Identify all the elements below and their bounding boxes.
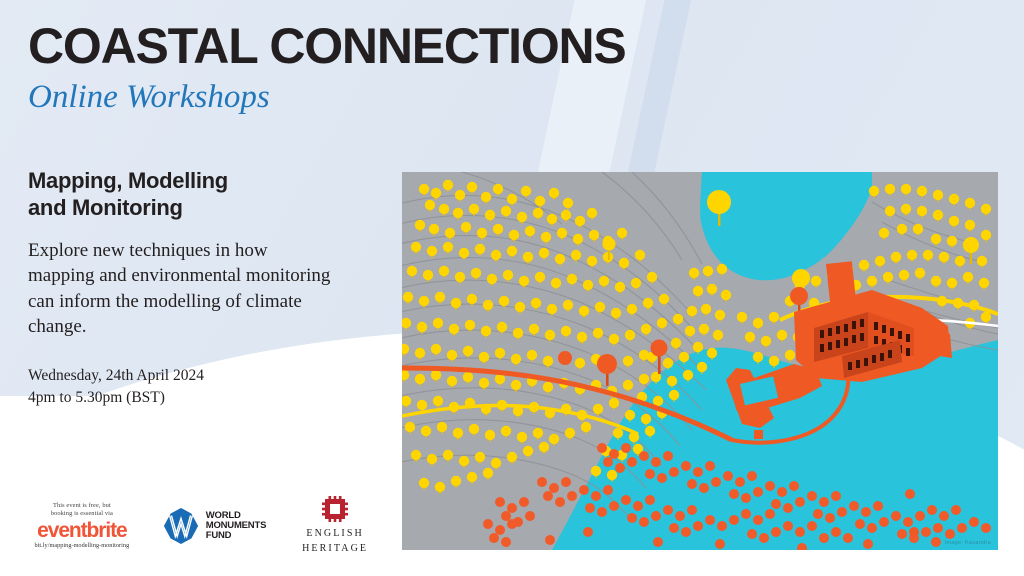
english-heritage-wordmark: ENGLISH HERITAGE <box>292 527 378 555</box>
session-time: 4pm to 5.30pm (BST) <box>28 387 358 408</box>
session-heading-line1: Mapping, Modelling <box>28 168 228 193</box>
session-info: Mapping, Modelling and Monitoring Explor… <box>28 168 358 408</box>
poster-header: COASTAL CONNECTIONS Online Workshops <box>28 20 728 115</box>
eventbrite-note: This event is free, but booking is essen… <box>28 502 136 518</box>
map-illustration: Image: Kasandra <box>402 172 998 550</box>
map-svg <box>402 172 998 550</box>
english-heritage-logo: ENGLISH HERITAGE <box>292 496 378 555</box>
eventbrite-logo[interactable]: This event is free, but booking is essen… <box>28 502 136 550</box>
wmf-diamond-icon <box>162 507 200 545</box>
session-heading: Mapping, Modelling and Monitoring <box>28 168 358 222</box>
poster-canvas: COASTAL CONNECTIONS Online Workshops Map… <box>0 0 1024 576</box>
eventbrite-note-line2: booking is essential via <box>28 510 136 518</box>
wmf-wordmark: WORLD MONUMENTS FUND <box>206 511 266 541</box>
map-building-chimney-stack <box>826 261 857 311</box>
map-credit-marker <box>909 527 919 537</box>
session-datetime: Wednesday, 24th April 2024 4pm to 5.30pm… <box>28 365 358 408</box>
eventbrite-wordmark: eventbrite <box>28 520 136 541</box>
wmf-line3: FUND <box>206 531 266 541</box>
english-heritage-portcullis-icon <box>322 496 348 522</box>
session-heading-line2: and Monitoring <box>28 195 183 220</box>
eh-line1: ENGLISH <box>292 527 378 541</box>
page-title: COASTAL CONNECTIONS <box>28 20 728 73</box>
world-monuments-fund-logo: WORLD MONUMENTS FUND <box>162 507 266 545</box>
session-description: Explore new techniques in how mapping an… <box>28 238 338 340</box>
eh-line2: HERITAGE <box>292 542 378 556</box>
page-subtitle: Online Workshops <box>28 79 728 115</box>
session-date: Wednesday, 24th April 2024 <box>28 365 358 386</box>
map-credit-text: Image: Kasandra <box>945 540 991 546</box>
eventbrite-url[interactable]: bit.ly/mapping-modelling-monitoring <box>28 542 136 549</box>
eventbrite-note-line1: This event is free, but <box>28 502 136 510</box>
logo-row: This event is free, but booking is essen… <box>28 490 378 562</box>
